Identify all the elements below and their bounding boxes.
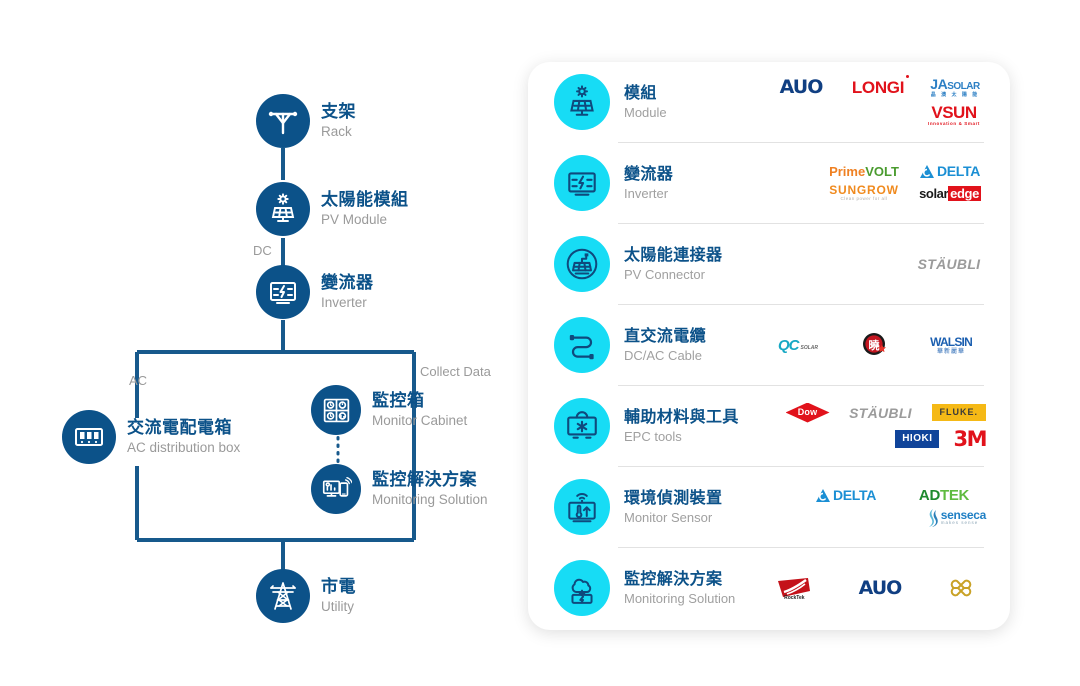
brand-row-pv-connector[interactable]: 太陽能連接器 PV Connector STÄUBLI: [528, 224, 1010, 304]
node-label-zh: 支架: [321, 102, 356, 122]
solar-panel-icon: [256, 182, 310, 236]
brand-logo-rocktek: RockTek: [775, 576, 813, 600]
node-label-en: Rack: [321, 123, 356, 140]
diagram-node-utility[interactable]: 市電 Utility: [256, 569, 356, 623]
brand-logo-staubli: STÄUBLI: [844, 406, 918, 420]
row-label-en: DC/AC Cable: [624, 348, 764, 364]
system-flow-diagram: 支架 Rack 太陽能模組 PV Module: [0, 0, 520, 686]
brand-logo-senseca: senseca makes sense: [806, 509, 986, 527]
sungrow-sub: Clean power for all: [840, 197, 887, 202]
maxsun-seal-icon: 曉: [860, 331, 888, 359]
node-label-zh: 監控解決方案: [372, 470, 488, 490]
senseca-mark-icon: [927, 509, 939, 527]
solar-panel-icon: [554, 74, 610, 130]
brand-logo-dow: Dow: [786, 403, 830, 423]
monitor-cabinet-icon: [311, 385, 361, 435]
node-label-en: Monitoring Solution: [372, 491, 488, 508]
diagram-node-monitor-cabinet[interactable]: 監控箱 Monitor Cabinet: [311, 385, 467, 435]
toolbox-icon: [554, 398, 610, 454]
brand-row-inverter[interactable]: 變流器 Inverter PrimeVOLT DELTA: [528, 143, 1010, 223]
brand-logo-hioki: HIOKI: [895, 430, 939, 448]
node-label-zh: 監控箱: [372, 391, 467, 411]
row-label-zh: 模組: [624, 84, 764, 103]
brand-logo-auo: AUO: [770, 78, 832, 97]
brand-logo-delta: DELTA: [914, 164, 986, 178]
brand-logo-adtek: ADTEK: [902, 488, 986, 503]
jasolar-wordmark: JASOLAR: [930, 77, 979, 92]
diagram-node-rack[interactable]: 支架 Rack: [256, 94, 356, 148]
row-label-en: Monitor Sensor: [624, 510, 764, 526]
vsun-sub: Innovation & Smart: [928, 122, 980, 127]
row-label-zh: 變流器: [624, 165, 764, 184]
node-label-en: AC distribution box: [127, 439, 240, 456]
brand-logos: RockTek AUO: [764, 560, 986, 616]
brand-panel: 模組 Module AUO LONGI JASOLAR 晶 澳 太 陽 能 VS…: [528, 62, 1010, 630]
node-label-zh: 市電: [321, 577, 356, 597]
brand-row-module[interactable]: 模組 Module AUO LONGI JASOLAR 晶 澳 太 陽 能 VS…: [528, 62, 1010, 142]
utility-pylon-icon: [256, 569, 310, 623]
brand-logos: DELTA ADTEK senseca makes sense: [764, 479, 986, 535]
brand-logo-longi: LONGI: [846, 79, 910, 96]
edge-label-dc: DC: [253, 243, 272, 258]
walsin-sub: 華新麗華: [937, 349, 965, 355]
brand-logo-walsin: WALSIN 華新麗華: [930, 336, 972, 355]
brand-row-monitor-sensor[interactable]: 環境偵測裝置 Monitor Sensor DELTA ADTEK: [528, 467, 1010, 547]
edge-label-collect-data: Collect Data: [420, 364, 491, 379]
row-label-en: EPC tools: [624, 429, 764, 445]
node-label-zh: 變流器: [321, 273, 374, 293]
brand-logo-fluke: FLUKE.: [932, 404, 987, 421]
inverter-icon: [554, 155, 610, 211]
pv-connector-icon: [554, 236, 610, 292]
row-label-zh: 監控解決方案: [624, 570, 764, 589]
row-label-zh: 環境偵測裝置: [624, 489, 764, 508]
brand-logo-longi-text: LONGI: [852, 79, 904, 96]
delta-triangle-icon: [816, 489, 830, 502]
delta-triangle-icon: [920, 165, 934, 178]
walsin-wordmark: WALSIN: [930, 336, 972, 348]
row-label-en: PV Connector: [624, 267, 764, 283]
node-label-en: Utility: [321, 598, 356, 615]
brand-logo-maxsun: 曉: [860, 331, 888, 359]
brand-row-list: 模組 Module AUO LONGI JASOLAR 晶 澳 太 陽 能 VS…: [528, 62, 1010, 628]
weather-sensor-icon: [554, 479, 610, 535]
brand-logos: QCSOLAR 曉 WALSIN 華新麗華: [764, 317, 986, 373]
brand-logo-auo: AUO: [850, 579, 910, 598]
pinwheel-icon: [947, 574, 975, 602]
brand-logos: Dow STÄUBLI FLUKE. HIOKI 3M: [764, 398, 986, 454]
brand-logo-3m: 3M: [953, 429, 986, 450]
brand-logo-qcsolar: QCSOLAR: [778, 338, 818, 353]
monitoring-devices-icon: [311, 464, 361, 514]
brand-row-dc-ac-cable[interactable]: 直交流電纜 DC/AC Cable QCSOLAR 曉: [528, 305, 1010, 385]
rack-tower-icon: [256, 94, 310, 148]
diagram-node-monitoring-solution[interactable]: 監控解決方案 Monitoring Solution: [311, 464, 488, 514]
brand-logos: STÄUBLI: [764, 236, 986, 292]
diagram-node-pv-module[interactable]: 太陽能模組 PV Module: [256, 182, 409, 236]
node-label-en: PV Module: [321, 211, 409, 228]
cable-icon: [554, 317, 610, 373]
node-label-zh: 交流電配電箱: [127, 418, 240, 438]
diagram-node-ac-distribution-box[interactable]: 交流電配電箱 AC distribution box: [62, 410, 240, 464]
distribution-box-icon: [62, 410, 116, 464]
brand-logo-pinwheel: [947, 574, 975, 602]
brand-row-epc-tools[interactable]: 輔助材料與工具 EPC tools Dow STÄUBLI FLUKE. HIO…: [528, 386, 1010, 466]
row-label-en: Inverter: [624, 186, 764, 202]
edge-label-ac: AC: [129, 373, 147, 388]
node-label-en: Monitor Cabinet: [372, 412, 467, 429]
inverter-icon: [256, 265, 310, 319]
brand-logos: AUO LONGI JASOLAR 晶 澳 太 陽 能 VSUN Innovat…: [764, 74, 986, 130]
diagram-node-inverter[interactable]: 變流器 Inverter: [256, 265, 374, 319]
row-label-zh: 直交流電纜: [624, 327, 764, 346]
cloud-monitor-icon: [554, 560, 610, 616]
jasolar-sub: 晶 澳 太 陽 能: [931, 93, 980, 98]
brand-logos: PrimeVOLT DELTA SUNGROW Clean power for …: [764, 155, 986, 211]
brand-logo-staubli: STÄUBLI: [912, 257, 986, 271]
longi-dot-icon: [906, 75, 909, 78]
brand-logo-primevolt: PrimeVOLT: [828, 165, 900, 178]
brand-logo-solaredge: solaredge: [914, 186, 986, 201]
row-label-zh: 輔助材料與工具: [624, 408, 764, 427]
node-label-en: Inverter: [321, 294, 374, 311]
brand-logo-jasolar: JASOLAR 晶 澳 太 陽 能: [924, 77, 986, 98]
row-label-en: Module: [624, 105, 764, 121]
row-label-en: Monitoring Solution: [624, 591, 764, 607]
infographic-root: 支架 Rack 太陽能模組 PV Module: [0, 0, 1080, 686]
row-label-zh: 太陽能連接器: [624, 246, 764, 265]
vsun-wordmark: VSUN: [931, 104, 976, 121]
brand-logo-sungrow: SUNGROW Clean power for all: [828, 184, 900, 202]
sungrow-wordmark: SUNGROW: [829, 184, 899, 196]
brand-row-monitoring-solution[interactable]: 監控解決方案 Monitoring Solution RockTek AUO: [528, 548, 1010, 628]
brand-logo-delta: DELTA: [804, 488, 888, 502]
brand-logo-vsun: VSUN Innovation & Smart: [922, 104, 986, 127]
node-label-zh: 太陽能模組: [321, 190, 409, 210]
svg-text:曉: 曉: [869, 338, 880, 352]
